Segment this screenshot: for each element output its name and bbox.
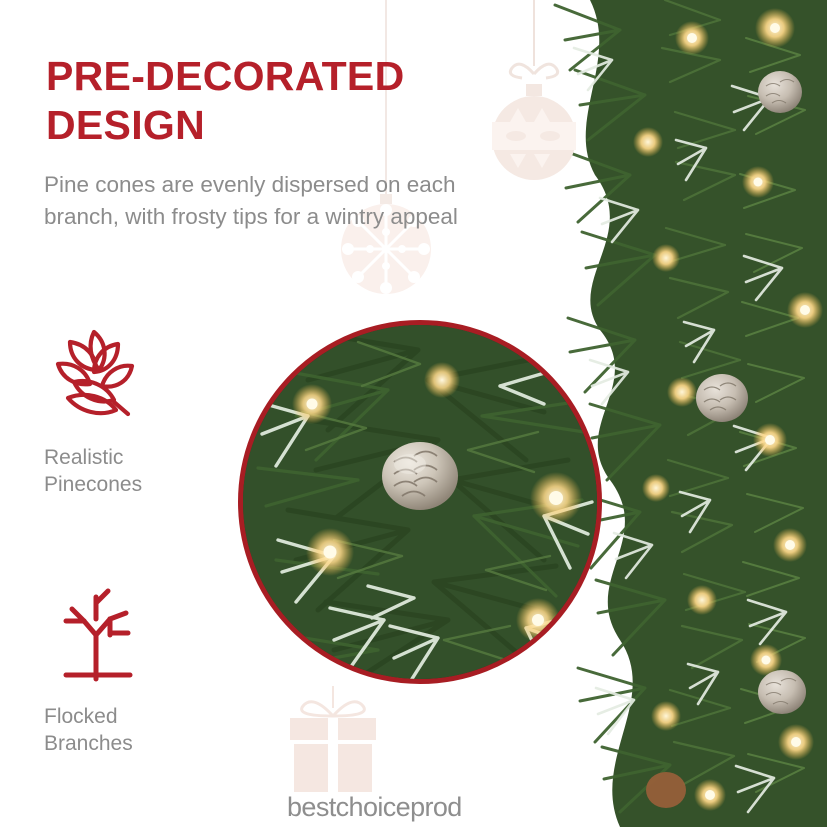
inset-photo (238, 320, 602, 684)
feature-label-line-2: Pinecones (44, 471, 194, 498)
subtitle-text: Pine cones are evenly dispersed on each … (44, 169, 459, 233)
headline-line-1: PRE-DECORATED (46, 52, 486, 101)
feature-label-line-1: Realistic (44, 444, 194, 471)
brand-logo-text: bestchoiceproducts (287, 792, 462, 823)
feature-realistic-pinecones: Realistic Pinecones (44, 324, 254, 498)
feature-label-line-2: Branches (44, 730, 194, 757)
bare-tree-icon (44, 583, 154, 687)
pinecone-icon (44, 324, 154, 428)
gift-box-icon (278, 686, 388, 796)
brand-logo: bestchoiceproducts (287, 786, 462, 827)
page-title: PRE-DECORATED DESIGN (46, 52, 486, 150)
inset-photo-svg (238, 320, 602, 684)
product-feature-slide: PRE-DECORATED DESIGN Pine cones are even… (0, 0, 827, 827)
feature-label-line-1: Flocked (44, 703, 194, 730)
feature-label: Flocked Branches (44, 703, 194, 757)
pinecone-closeup-inset (238, 320, 602, 684)
feature-flocked-branches: Flocked Branches (44, 583, 254, 757)
feature-label: Realistic Pinecones (44, 444, 194, 498)
headline-line-2: DESIGN (46, 101, 486, 150)
inset-pinecone (382, 442, 458, 510)
